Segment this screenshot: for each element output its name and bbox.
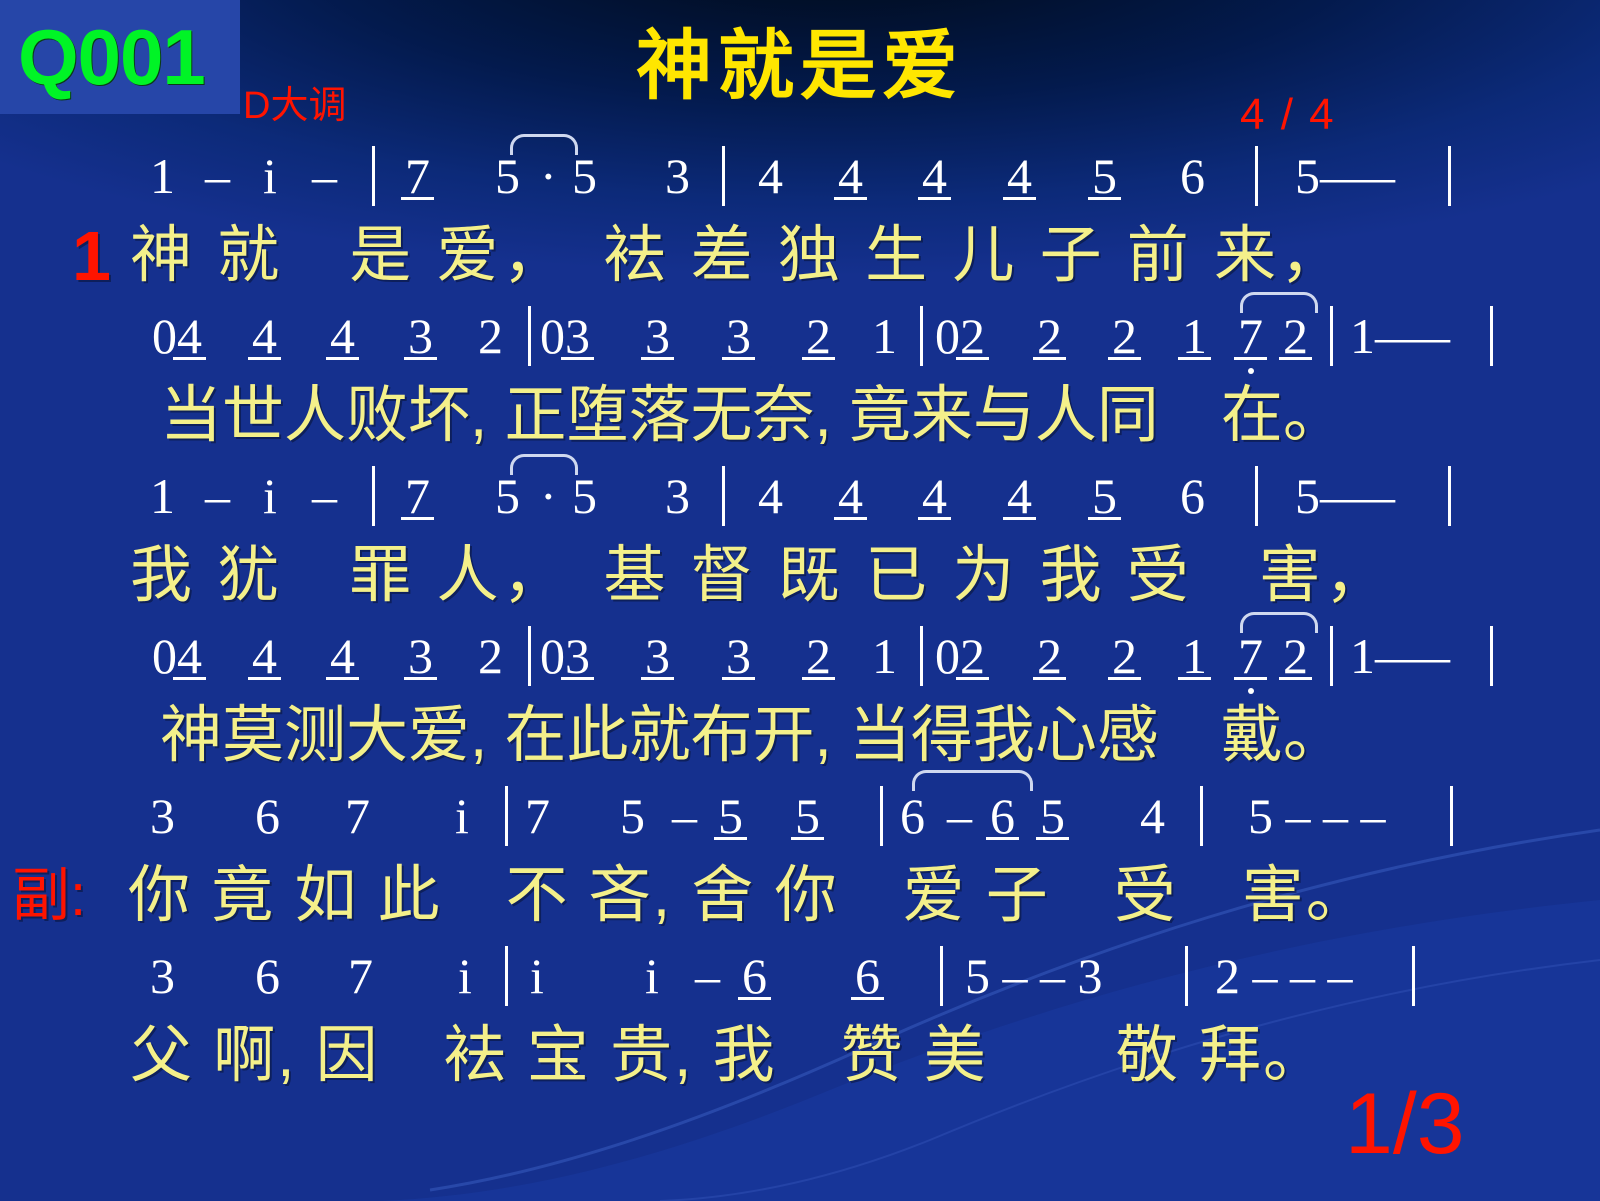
lyric-line-4-text: 神莫测大爱, 在此就布开, 当得我心感 戴。 <box>160 692 1345 780</box>
verse-number: 1 <box>72 212 111 300</box>
lyric-line-1-text: 神 就 是 爱， 袪 差 独 生 儿 子 前 来， <box>130 212 1346 300</box>
lyric-line-6-text: 父 啊, 因 袪 宝 贵, 我 赞 美 敬 拜。 <box>130 1012 1327 1100</box>
page-indicator: 1/3 <box>1345 1078 1465 1170</box>
stave-line-2: 04 4 4 3 2 03 3 3 2 1 02 2 2 1 7 2 1––– <box>0 300 1600 372</box>
lyric-line-1: 1 神 就 是 爱， 袪 差 独 生 儿 子 前 来， <box>0 212 1600 300</box>
lyric-line-2-text: 当世人败坏, 正堕落无奈, 竟来与人同 在。 <box>160 372 1345 460</box>
time-signature-label: 4 / 4 <box>1240 92 1336 138</box>
stave-line-1: 1 – i – 7 5 · 5 3 4 4 4 4 5 6 5––– <box>0 140 1600 212</box>
lyric-line-2: 当世人败坏, 正堕落无奈, 竟来与人同 在。 <box>0 372 1600 460</box>
stave-line-6: 3 6 7 i i i – 6 6 5 – – 3 2 – – – <box>0 940 1600 1012</box>
stave-line-5: 3 6 7 i 7 5 – 5 5 6 – 6 5 4 5 – – – <box>0 780 1600 852</box>
stave-line-3: 1 – i – 7 5 · 5 3 4 4 4 4 5 6 5––– <box>0 460 1600 532</box>
musical-score: 1 – i – 7 5 · 5 3 4 4 4 4 5 6 5––– 1 神 就… <box>0 140 1600 1100</box>
lyric-line-5-text: 你 竟 如 此 不 吝, 舍 你 爱 子 受 害。 <box>128 852 1370 940</box>
lyric-line-3: 我 犹 罪 人， 基 督 既 已 为 我 受 害， <box>0 532 1600 620</box>
lyric-line-4: 神莫测大爱, 在此就布开, 当得我心感 戴。 <box>0 692 1600 780</box>
page-title: 神就是爱 <box>0 24 1600 110</box>
chorus-label: 副: <box>12 852 86 940</box>
lyric-line-5: 副: 你 竟 如 此 不 吝, 舍 你 爱 子 受 害。 <box>0 852 1600 940</box>
stave-line-4: 04 4 4 3 2 03 3 3 2 1 02 2 2 1 7 2 1––– <box>0 620 1600 692</box>
lyric-line-3-text: 我 犹 罪 人， 基 督 既 已 为 我 受 害， <box>130 532 1391 620</box>
